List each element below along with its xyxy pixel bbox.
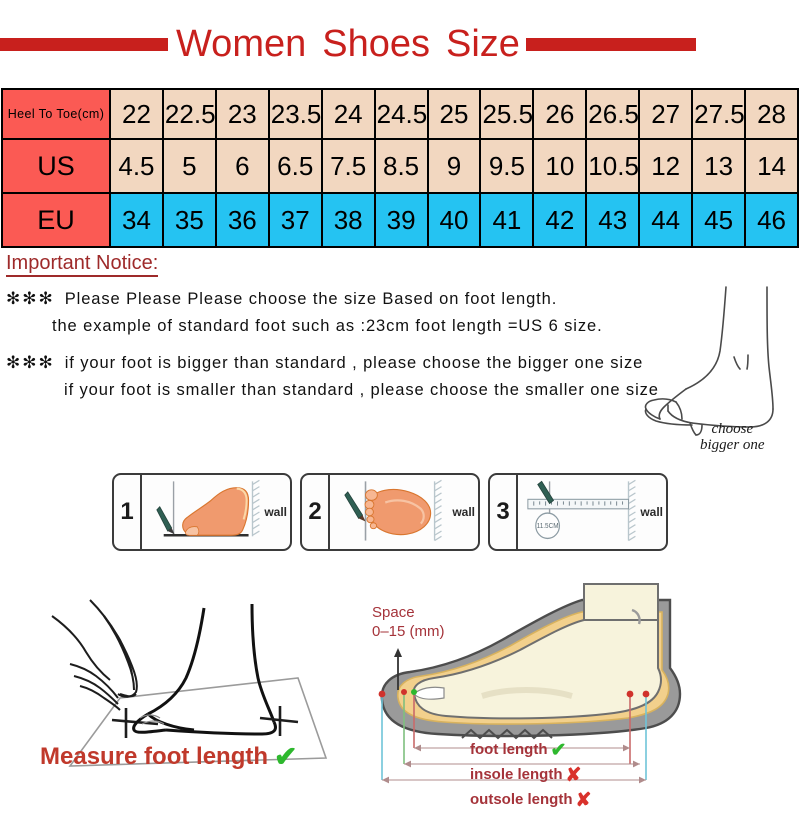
- step-card-2: 2: [300, 473, 480, 551]
- cell-us-9: 10.5: [586, 139, 639, 193]
- cell-cm-6: 25: [428, 89, 481, 139]
- cell-eu-2: 36: [216, 193, 269, 247]
- notice-paragraph-1-line-1: ✻✻✻Please Please Please choose the size …: [6, 290, 686, 308]
- cell-us-5: 8.5: [375, 139, 428, 193]
- cell-cm-10: 27: [639, 89, 692, 139]
- cell-cm-0: 22: [110, 89, 163, 139]
- step-illustration-1: wall: [142, 475, 290, 549]
- cell-cm-9: 26.5: [586, 89, 639, 139]
- title-word-women: Women: [176, 23, 306, 65]
- cell-eu-7: 41: [480, 193, 533, 247]
- cell-eu-8: 42: [533, 193, 586, 247]
- step-number-2: 2: [302, 475, 330, 549]
- cell-cm-4: 24: [322, 89, 375, 139]
- wall-label-3: wall: [640, 505, 663, 519]
- cell-us-2: 6: [216, 139, 269, 193]
- title-bar-left: [0, 38, 168, 51]
- cross-icon-outsole-length: ✘: [576, 790, 592, 811]
- label-outsole-length: outsole length✘: [470, 788, 591, 813]
- step-number-3: 3: [490, 475, 518, 549]
- cell-cm-7: 25.5: [480, 89, 533, 139]
- cell-eu-1: 35: [163, 193, 216, 247]
- foot-sketch-caption-line-2: bigger one: [700, 438, 765, 454]
- cell-eu-11: 45: [692, 193, 745, 247]
- space-dimension-label: Space 0–15 (mm): [372, 604, 445, 642]
- asterisk-marker-icon: ✻✻✻: [6, 289, 55, 308]
- cell-us-4: 7.5: [322, 139, 375, 193]
- cell-cm-2: 23: [216, 89, 269, 139]
- ruler-measurement-readout: 11.5CM: [537, 523, 559, 530]
- length-measurement-labels: foot length✔ insole length✘ outsole leng…: [470, 738, 591, 813]
- table-row-us: US 4.5 5 6 6.5 7.5 8.5 9 9.5 10 10.5 12 …: [2, 139, 798, 193]
- step-number-1: 1: [114, 475, 142, 549]
- cell-us-6: 9: [428, 139, 481, 193]
- cell-us-3: 6.5: [269, 139, 322, 193]
- cell-eu-9: 43: [586, 193, 639, 247]
- cell-eu-4: 38: [322, 193, 375, 247]
- label-insole-length: insole length✘: [470, 763, 591, 788]
- cell-us-11: 13: [692, 139, 745, 193]
- asterisk-marker-icon-2: ✻✻✻: [6, 353, 55, 372]
- wall-label-2: wall: [452, 505, 475, 519]
- cross-icon-insole-length: ✘: [566, 765, 582, 786]
- cell-cm-1: 22.5: [163, 89, 216, 139]
- page-title: WomenShoesSize: [176, 23, 520, 66]
- cell-us-10: 12: [639, 139, 692, 193]
- label-insole-length-text: insole length: [470, 766, 563, 783]
- row-label-eu: EU: [2, 193, 110, 247]
- size-conversion-table: Heel To Toe(cm) 22 22.5 23 23.5 24 24.5 …: [1, 88, 799, 248]
- table-row-eu: EU 34 35 36 37 38 39 40 41 42 43 44 45 4…: [2, 193, 798, 247]
- label-foot-length-text: foot length: [470, 741, 547, 758]
- foot-sketch-caption: choose bigger one: [700, 422, 765, 454]
- cell-eu-12: 46: [745, 193, 798, 247]
- space-label-line-2: 0–15 (mm): [372, 623, 445, 642]
- cell-eu-6: 40: [428, 193, 481, 247]
- cell-cm-3: 23.5: [269, 89, 322, 139]
- important-notice-heading: Important Notice:: [6, 252, 158, 277]
- notice-p1-l1-text: Please Please Please choose the size Bas…: [65, 290, 558, 308]
- green-check-icon: ✔: [274, 741, 297, 772]
- title-word-size: Size: [446, 23, 520, 65]
- table-row-heel-to-toe: Heel To Toe(cm) 22 22.5 23 23.5 24 24.5 …: [2, 89, 798, 139]
- cell-us-12: 14: [745, 139, 798, 193]
- cell-eu-10: 44: [639, 193, 692, 247]
- notice-paragraph-2-line-2: if your foot is smaller than standard , …: [6, 382, 686, 399]
- row-label-us: US: [2, 139, 110, 193]
- notice-paragraph-1: ✻✻✻Please Please Please choose the size …: [6, 290, 686, 336]
- page-title-row: WomenShoesSize: [0, 18, 800, 70]
- measure-foot-caption-text: Measure foot length: [40, 743, 268, 770]
- step-card-3: 3: [488, 473, 668, 551]
- cell-eu-0: 34: [110, 193, 163, 247]
- cell-eu-5: 39: [375, 193, 428, 247]
- title-word-shoes: Shoes: [322, 23, 430, 65]
- cell-cm-11: 27.5: [692, 89, 745, 139]
- notice-paragraph-2: ✻✻✻if your foot is bigger than standard …: [6, 354, 686, 400]
- notice-p2-l1-text: if your foot is bigger than standard , p…: [65, 354, 643, 372]
- title-bar-right: [526, 38, 696, 51]
- row-label-heel-to-toe: Heel To Toe(cm): [2, 89, 110, 139]
- space-label-line-1: Space: [372, 604, 445, 623]
- cell-cm-5: 24.5: [375, 89, 428, 139]
- step-card-1: 1: [112, 473, 292, 551]
- cell-us-8: 10: [533, 139, 586, 193]
- notice-text-block: ✻✻✻Please Please Please choose the size …: [6, 290, 686, 417]
- check-icon-foot-length: ✔: [550, 740, 566, 761]
- cell-us-1: 5: [163, 139, 216, 193]
- cell-cm-12: 28: [745, 89, 798, 139]
- notice-paragraph-2-line-1: ✻✻✻if your foot is bigger than standard …: [6, 354, 686, 372]
- step-illustration-2: wall: [330, 475, 478, 549]
- wall-label-1: wall: [264, 505, 287, 519]
- cell-us-7: 9.5: [480, 139, 533, 193]
- measure-foot-caption: Measure foot length✔: [40, 740, 297, 773]
- step-illustration-3: 11.5CM wall: [518, 475, 666, 549]
- cell-cm-8: 26: [533, 89, 586, 139]
- cell-us-0: 4.5: [110, 139, 163, 193]
- cell-eu-3: 37: [269, 193, 322, 247]
- measuring-steps-panel: 1: [112, 473, 668, 551]
- notice-paragraph-1-line-2: the example of standard foot such as :23…: [6, 318, 686, 335]
- label-foot-length: foot length✔: [470, 738, 591, 763]
- foot-sketch-caption-line-1: choose: [700, 422, 765, 438]
